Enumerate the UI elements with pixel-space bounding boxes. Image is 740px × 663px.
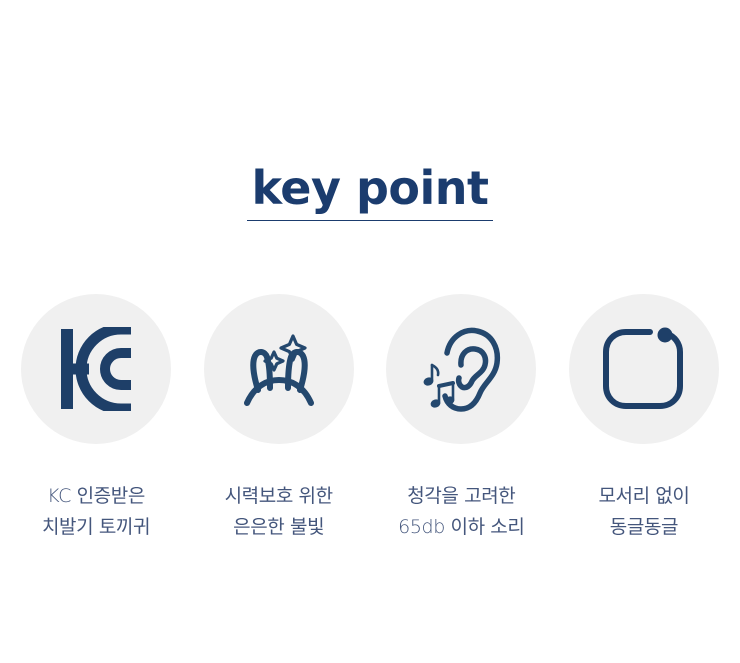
page-title: key point xyxy=(0,162,740,221)
ear-music-note-icon xyxy=(414,323,508,415)
bunny-ears-sparkle-icon xyxy=(234,324,324,414)
caption-line-1: 시력보호 위한 xyxy=(225,481,333,512)
feature-caption-light: 시력보호 위한 은은한 불빛 xyxy=(225,481,333,543)
caption-line-1: KC 인증받은 xyxy=(42,481,150,512)
icon-circle-kc xyxy=(21,294,171,444)
feature-caption-sound: 청각을 고려한 65db 이하 소리 xyxy=(398,481,524,543)
icon-circle-sound xyxy=(386,294,536,444)
caption-line-1: 청각을 고려한 xyxy=(398,481,524,512)
feature-caption-rounded: 모서리 없이 동글동글 xyxy=(598,481,689,543)
kc-certification-mark-icon xyxy=(59,327,133,411)
feature-item-sound: 청각을 고려한 65db 이하 소리 xyxy=(381,294,541,543)
key-point-section: key point xyxy=(0,0,740,663)
feature-list: KC 인증받은 치발기 토끼귀 xyxy=(0,294,740,543)
feature-item-light: 시력보호 위한 은은한 불빛 xyxy=(199,294,359,543)
feature-item-kc: KC 인증받은 치발기 토끼귀 xyxy=(16,294,176,543)
feature-caption-kc: KC 인증받은 치발기 토끼귀 xyxy=(42,481,150,543)
icon-circle-light xyxy=(204,294,354,444)
caption-line-2: 치발기 토끼귀 xyxy=(42,512,150,543)
icon-circle-rounded xyxy=(569,294,719,444)
caption-line-2: 동글동글 xyxy=(598,512,689,543)
rounded-square-icon xyxy=(600,326,688,412)
caption-line-2: 65db 이하 소리 xyxy=(398,512,524,543)
caption-line-2: 은은한 불빛 xyxy=(225,512,333,543)
feature-item-rounded: 모서리 없이 동글동글 xyxy=(564,294,724,543)
caption-line-1: 모서리 없이 xyxy=(598,481,689,512)
page-title-text: key point xyxy=(247,162,492,221)
